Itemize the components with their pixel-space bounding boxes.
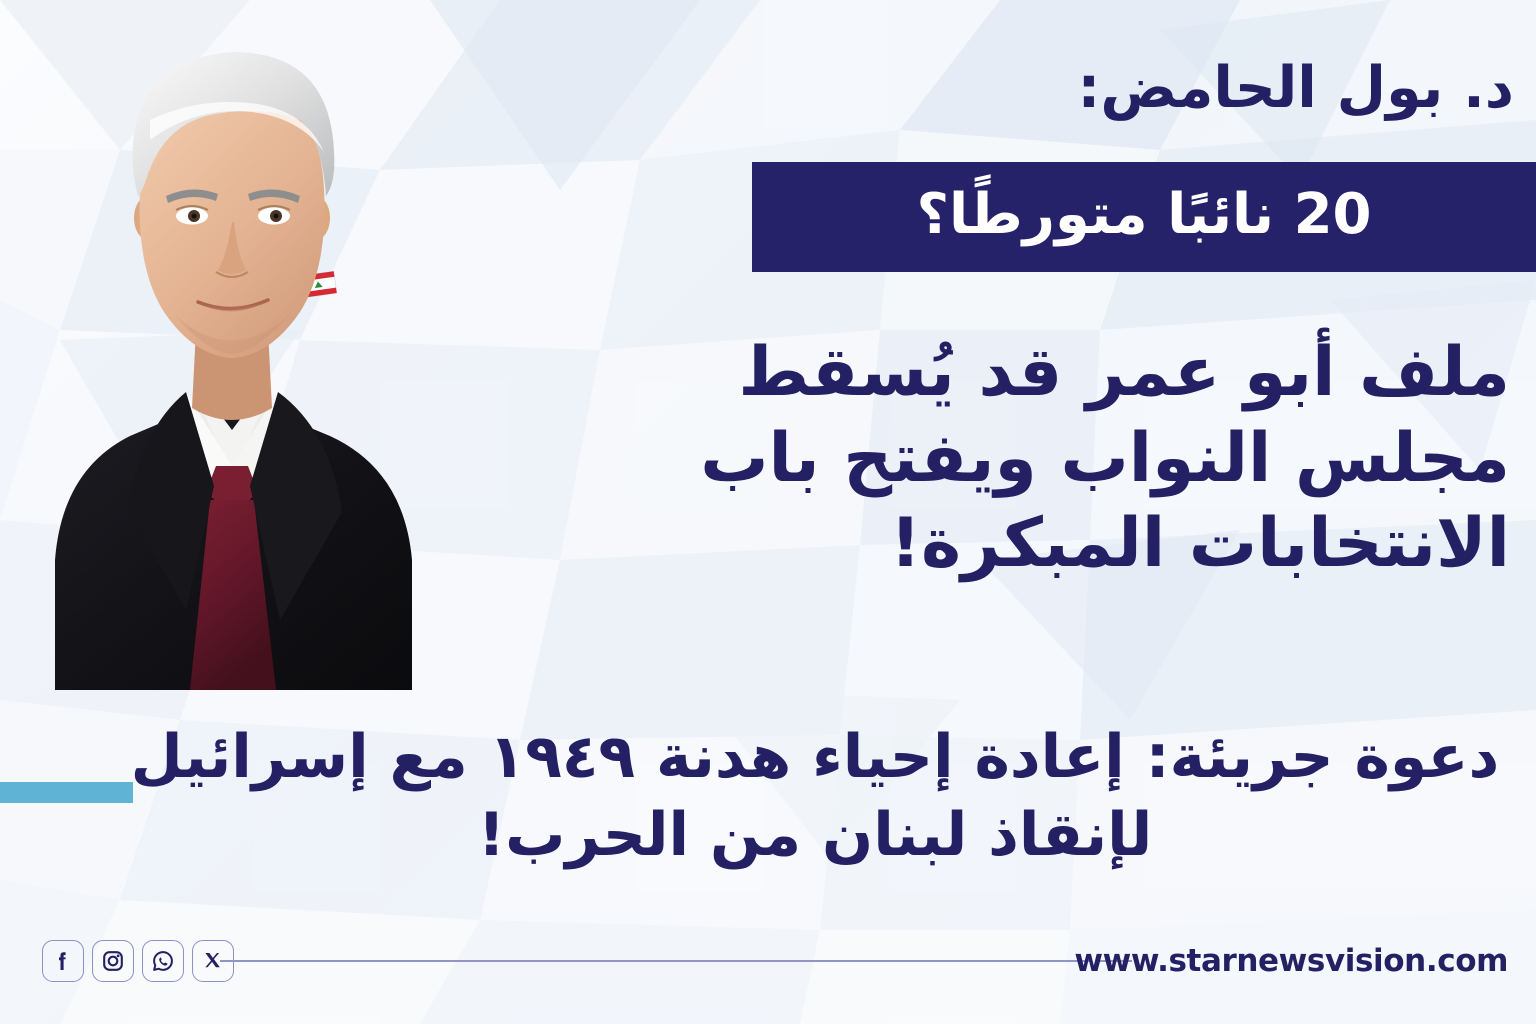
- teal-accent-bar: [0, 782, 133, 803]
- secondary-headline: دعوة جريئة: إعادة إحياء هدنة ١٩٤٩ مع إسر…: [120, 718, 1510, 874]
- portrait-illustration: [0, 0, 474, 690]
- headline-banner-text: 20 نائبًا متورطًا؟: [916, 187, 1371, 247]
- speaker-portrait: [0, 0, 474, 690]
- facebook-icon[interactable]: [42, 940, 84, 982]
- website-url[interactable]: www.starnewsvision.com: [1074, 940, 1508, 982]
- whatsapp-icon[interactable]: [142, 940, 184, 982]
- footer-bar: www.starnewsvision.com: [0, 932, 1536, 1024]
- main-headline: ملف أبو عمر قد يُسقط مجلس النواب ويفتح ب…: [500, 330, 1510, 587]
- footer-divider-left: [220, 960, 1090, 962]
- instagram-icon[interactable]: [92, 940, 134, 982]
- headline-banner: 20 نائبًا متورطًا؟: [752, 162, 1536, 272]
- news-poster: د. بول الحامض: 20 نائبًا متورطًا؟ ملف أب…: [0, 0, 1536, 1024]
- speaker-name-kicker: د. بول الحامض:: [634, 56, 1514, 122]
- social-links: [42, 940, 234, 982]
